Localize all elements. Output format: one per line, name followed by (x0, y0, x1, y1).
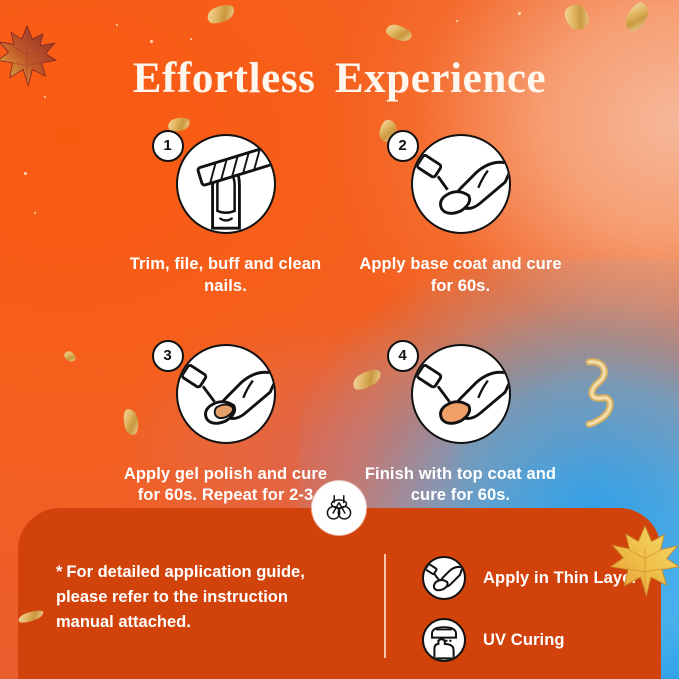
step-2-caption: Apply base coat and cure for 60s. (353, 254, 568, 298)
step-4-graphic: 4 (343, 340, 578, 450)
step-3-number: 3 (152, 340, 184, 372)
step-2-number: 2 (387, 130, 419, 162)
step-2-graphic: 2 (343, 130, 578, 240)
step-3-graphic: 3 (108, 340, 343, 450)
feature-uv-curing-label: UV Curing (483, 631, 565, 650)
poster-root: Effortless Experience (0, 0, 679, 679)
note-asterisk: * (56, 563, 62, 581)
gel-polish-brush-icon (176, 344, 276, 444)
feature-list: Apply in Thin Layer (422, 556, 638, 679)
feature-thin-layer: Apply in Thin Layer (422, 556, 638, 600)
step-1-graphic: 1 (108, 130, 343, 240)
maple-leaf-icon (608, 523, 679, 597)
step-4-number: 4 (387, 340, 419, 372)
step-1: 1 Trim, file, buff and clean nails. (108, 130, 343, 298)
steps-row-1: 1 Trim, file, buff and clean nails. (108, 130, 578, 298)
base-coat-brush-icon (411, 134, 511, 234)
step-3: 3 Apply gel polish and cure for 60s. Rep… (108, 340, 343, 529)
top-coat-brush-icon (411, 344, 511, 444)
brand-bow-logo-icon (325, 493, 353, 523)
steps-grid: 1 Trim, file, buff and clean nails. (108, 130, 578, 529)
step-1-caption: Trim, file, buff and clean nails. (118, 254, 333, 298)
panel-divider (384, 554, 386, 658)
step-4: 4 Finish with top coat and cure for 60s. (343, 340, 578, 529)
page-title: Effortless Experience (0, 54, 679, 103)
uv-lamp-icon (422, 618, 466, 662)
step-2: 2 Apply base coat and cure for 60s. (343, 130, 578, 298)
step-4-caption: Finish with top coat and cure for 60s. (353, 464, 568, 508)
note-text: For detailed application guide, please r… (56, 563, 305, 631)
thin-layer-brush-icon (422, 556, 466, 600)
instruction-note: *For detailed application guide, please … (18, 508, 348, 635)
feature-uv-curing: UV Curing (422, 618, 638, 662)
brand-badge (312, 481, 366, 535)
step-1-number: 1 (152, 130, 184, 162)
nail-file-icon (176, 134, 276, 234)
